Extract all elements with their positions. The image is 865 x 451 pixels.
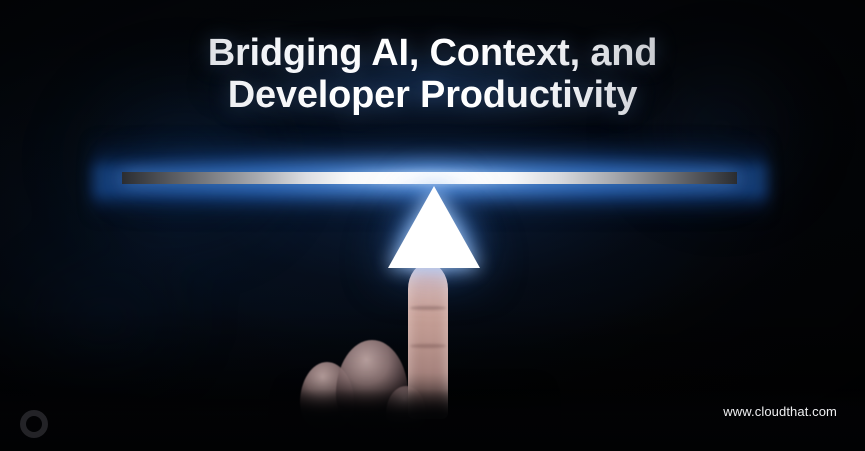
fulcrum-triangle: [388, 186, 480, 268]
title-block: Bridging AI, Context, and Developer Prod…: [0, 33, 865, 115]
title-line-1: Bridging AI, Context, and: [0, 33, 865, 73]
footer-fade: [0, 389, 865, 451]
site-url: www.cloudthat.com: [723, 404, 837, 419]
finger-crease-upper: [410, 306, 446, 310]
balance-beam: [122, 172, 737, 184]
banner-image: Bridging AI, Context, and Developer Prod…: [0, 0, 865, 451]
finger-crease-lower: [410, 344, 446, 348]
title-line-2: Developer Productivity: [0, 75, 865, 115]
cloudthat-ring-logo-icon: [20, 410, 48, 438]
